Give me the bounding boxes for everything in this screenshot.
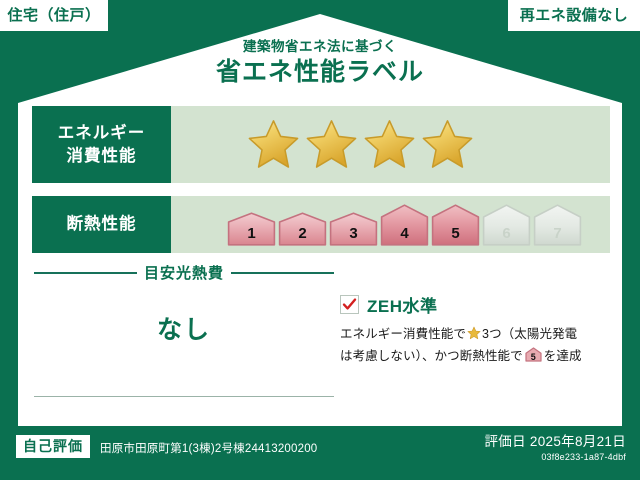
- zeh-desc-star-count: 3つ（太陽光発電: [482, 327, 577, 341]
- zeh-desc-part1: エネルギー消費性能で: [340, 327, 466, 341]
- insulation-performance-label: 断熱性能: [32, 196, 171, 253]
- star-rating: [171, 118, 474, 171]
- energy-performance-label: エネルギー 消費性能: [32, 106, 171, 183]
- grade-badge-inline-number: 5: [525, 353, 542, 362]
- energy-performance-value: [171, 106, 610, 183]
- property-address: 田原市田原町第1(3棟)2号棟24413200200: [100, 440, 317, 456]
- utility-cost-bottom-divider: [34, 396, 334, 397]
- checkbox-checked-icon: [340, 295, 359, 314]
- insulation-grade-number: 2: [278, 226, 327, 241]
- insulation-grade-5: 5: [431, 204, 480, 246]
- zeh-standard-description: エネルギー消費性能で 3つ（太陽光発電 は考慮しない）、かつ断熱性能で 5 を達…: [340, 324, 608, 367]
- insulation-grade-4: 4: [380, 204, 429, 246]
- page-title: 建築物省エネ法に基づく 省エネ性能ラベル: [0, 40, 640, 88]
- utility-cost-value: なし: [34, 310, 334, 346]
- footer: 自己評価 田原市田原町第1(3棟)2号棟24413200200 評価日 2025…: [0, 426, 640, 480]
- insulation-grade-number: 4: [380, 226, 429, 241]
- insulation-grade-number: 3: [329, 226, 378, 241]
- title-main: 省エネ性能ラベル: [0, 57, 640, 88]
- utility-cost-heading-label: 目安光熱費: [144, 262, 224, 283]
- grade-badge-inline: 5: [525, 347, 542, 362]
- renewable-energy-tab-label: 再エネ設備なし: [520, 8, 629, 23]
- energy-performance-row: エネルギー 消費性能: [32, 106, 610, 183]
- heading-rule-left: [34, 272, 137, 274]
- title-subtitle: 建築物省エネ法に基づく: [0, 40, 640, 55]
- insulation-performance-value: 1234567: [171, 196, 610, 253]
- insulation-grade-number: 7: [533, 226, 582, 241]
- star-icon-filled: [247, 118, 300, 171]
- energy-performance-label-line2: 消費性能: [67, 145, 137, 167]
- star-icon-filled: [363, 118, 416, 171]
- insulation-grade-scale: 1234567: [171, 204, 582, 246]
- star-icon-inline: [467, 326, 481, 340]
- insulation-grade-1: 1: [227, 212, 276, 246]
- insulation-performance-label-line1: 断熱性能: [67, 213, 137, 235]
- insulation-performance-row: 断熱性能 1234567: [32, 196, 610, 253]
- zeh-standard-title: ZEH水準: [367, 292, 438, 317]
- energy-label-card: 住宅（住戸） 再エネ設備なし 建築物省エネ法に基づく 省エネ性能ラベル エネルギ…: [0, 0, 640, 480]
- evaluation-date: 評価日 2025年8月21日: [484, 434, 626, 450]
- footer-right-group: 評価日 2025年8月21日 03f8e233-1a87-4dbf: [484, 434, 626, 463]
- zeh-desc-part2: は考慮しない）、かつ断熱性能で: [340, 349, 523, 363]
- star-icon-filled: [421, 118, 474, 171]
- zeh-desc-part3: を達成: [544, 349, 582, 363]
- insulation-grade-number: 6: [482, 226, 531, 241]
- evaluation-id: 03f8e233-1a87-4dbf: [484, 452, 626, 463]
- self-evaluation-badge: 自己評価: [16, 435, 90, 458]
- utility-cost-heading: 目安光熱費: [34, 262, 334, 283]
- insulation-grade-2: 2: [278, 212, 327, 246]
- insulation-grade-number: 1: [227, 226, 276, 241]
- energy-performance-label-line1: エネルギー: [58, 122, 146, 144]
- renewable-energy-tab: 再エネ設備なし: [508, 0, 640, 31]
- heading-rule-right: [231, 272, 334, 274]
- insulation-grade-7: 7: [533, 204, 582, 246]
- building-type-tab: 住宅（住戸）: [0, 0, 108, 31]
- insulation-grade-6: 6: [482, 204, 531, 246]
- insulation-grade-3: 3: [329, 212, 378, 246]
- building-type-tab-label: 住宅（住戸）: [7, 8, 100, 23]
- zeh-standard-block: ZEH水準 エネルギー消費性能で 3つ（太陽光発電 は考慮しない）、かつ断熱性能…: [340, 292, 608, 367]
- insulation-grade-number: 5: [431, 226, 480, 241]
- zeh-standard-header: ZEH水準: [340, 292, 608, 317]
- star-icon-filled: [305, 118, 358, 171]
